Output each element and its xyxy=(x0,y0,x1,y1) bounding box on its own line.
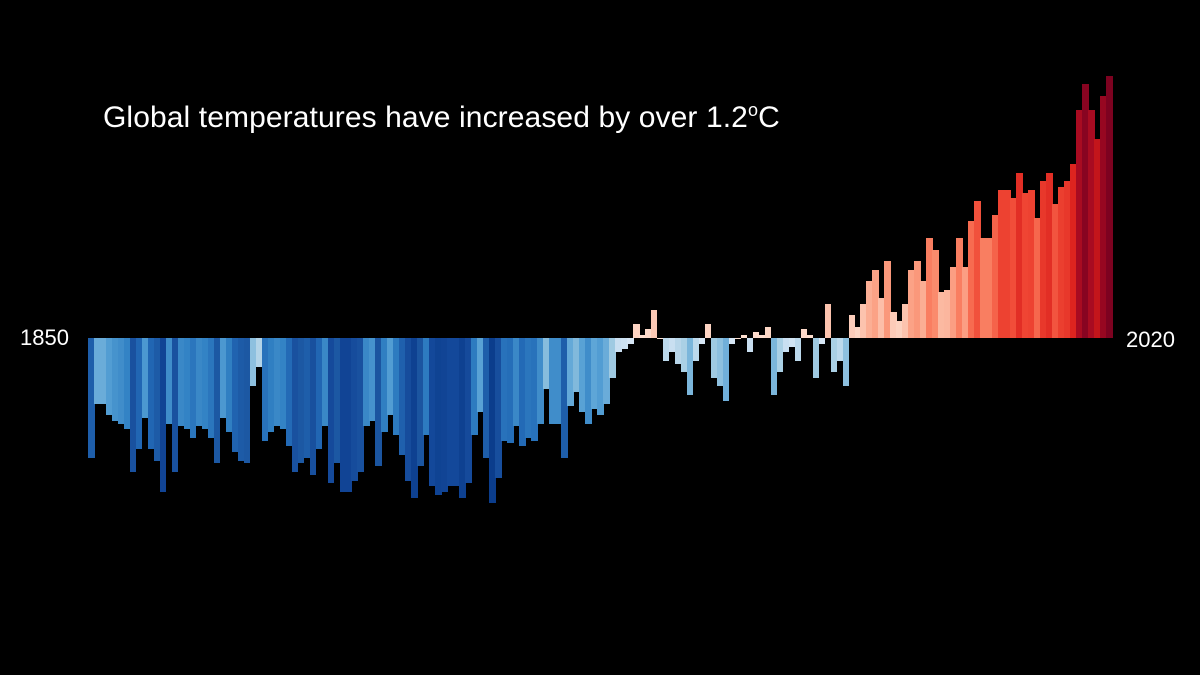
warming-stripes-chart: Global temperatures have increased by ov… xyxy=(0,0,1200,675)
temperature-bar xyxy=(627,338,634,344)
temperature-bar xyxy=(843,338,850,386)
plot-area xyxy=(88,0,1112,675)
temperature-bar xyxy=(765,327,772,338)
temperature-bar xyxy=(795,338,802,361)
temperature-bar xyxy=(705,324,712,338)
axis-label-start-year: 1850 xyxy=(20,327,69,349)
temperature-bar xyxy=(747,338,754,352)
temperature-bar xyxy=(813,338,820,378)
temperature-bar xyxy=(699,338,706,344)
axis-label-end-year: 2020 xyxy=(1126,329,1175,351)
temperature-bar xyxy=(723,338,730,401)
temperature-bar xyxy=(651,310,658,339)
temperature-bar xyxy=(735,338,742,339)
temperature-bar xyxy=(825,304,832,338)
temperature-bar xyxy=(1106,76,1113,338)
temperature-bar xyxy=(819,338,826,344)
